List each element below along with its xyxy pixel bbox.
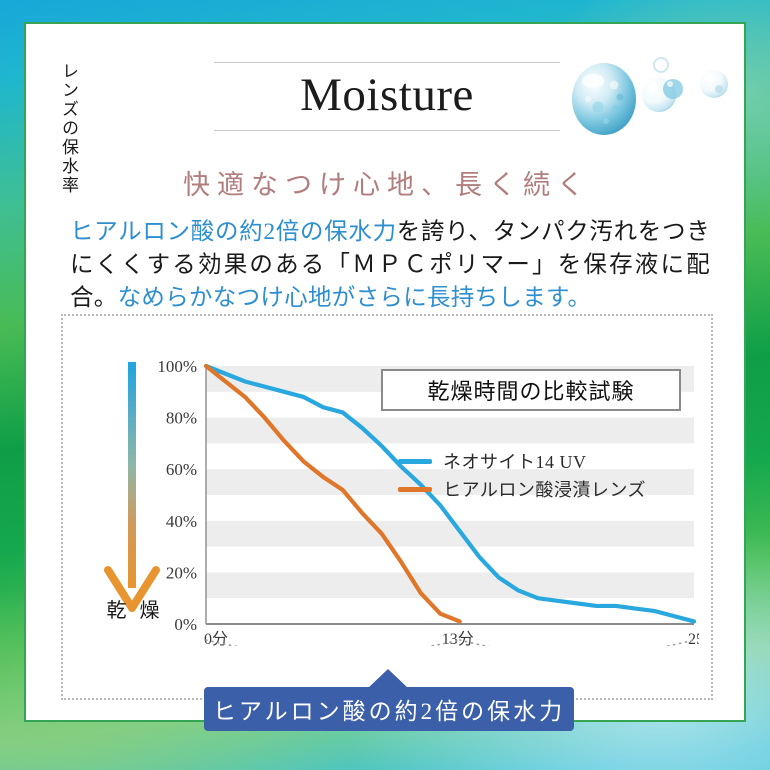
highlight-banner[interactable]: ヒアルロン酸の約2倍の保水力 bbox=[204, 687, 574, 731]
x-tick-label: 13分 bbox=[442, 630, 474, 646]
retention-axis-label: レンズの保水率 bbox=[56, 62, 81, 195]
y-tick-label: 40% bbox=[166, 512, 197, 531]
legend-item: ネオサイト14 UV bbox=[398, 447, 698, 475]
legend-color-swatch bbox=[398, 487, 432, 492]
legend-label: ヒアルロン酸浸漬レンズ bbox=[443, 476, 646, 502]
legend-item: ヒアルロン酸浸漬レンズ bbox=[398, 475, 698, 503]
y-tick-label: 60% bbox=[166, 460, 197, 479]
test-title-box: 乾燥時間の比較試験 bbox=[381, 369, 681, 411]
grid-band bbox=[206, 572, 694, 598]
y-tick-label: 80% bbox=[166, 409, 197, 428]
page-title: Moisture bbox=[214, 63, 560, 130]
y-tick-label: 100% bbox=[157, 357, 197, 376]
body-highlight-2: なめらかなつけ心地がさらに長持ちします。 bbox=[118, 285, 592, 311]
comparison-arc bbox=[206, 640, 460, 646]
comparison-arc bbox=[460, 640, 694, 646]
test-title-text: 乾燥時間の比較試験 bbox=[427, 374, 634, 406]
grid-band bbox=[206, 521, 694, 547]
body-highlight-1: ヒアルロン酸の約2倍の保水力 bbox=[70, 219, 397, 245]
water-droplet-icon bbox=[560, 51, 740, 137]
y-tick-label: 0% bbox=[174, 615, 197, 634]
poster-background: Moisture bbox=[0, 0, 770, 770]
grid-band bbox=[206, 418, 694, 444]
x-tick-label: 25分 bbox=[688, 630, 699, 646]
content-card: Moisture bbox=[24, 22, 746, 722]
banner-pointer-icon bbox=[368, 669, 408, 688]
title-block: Moisture bbox=[214, 62, 560, 131]
legend-label: ネオサイト14 UV bbox=[443, 448, 587, 474]
body-paragraph: ヒアルロン酸の約2倍の保水力を誇り、タンパク汚れをつきにくくする効果のある「ＭＰ… bbox=[70, 216, 710, 315]
chart-legend: ネオサイト14 UVヒアルロン酸浸漬レンズ bbox=[398, 447, 698, 503]
subheading: 快適なつけ心地、長く続く bbox=[26, 163, 748, 202]
title-rule-bottom bbox=[214, 130, 560, 131]
y-tick-label: 20% bbox=[166, 563, 197, 582]
banner-label: ヒアルロン酸の約2倍の保水力 bbox=[213, 692, 565, 726]
legend-color-swatch bbox=[398, 459, 432, 464]
